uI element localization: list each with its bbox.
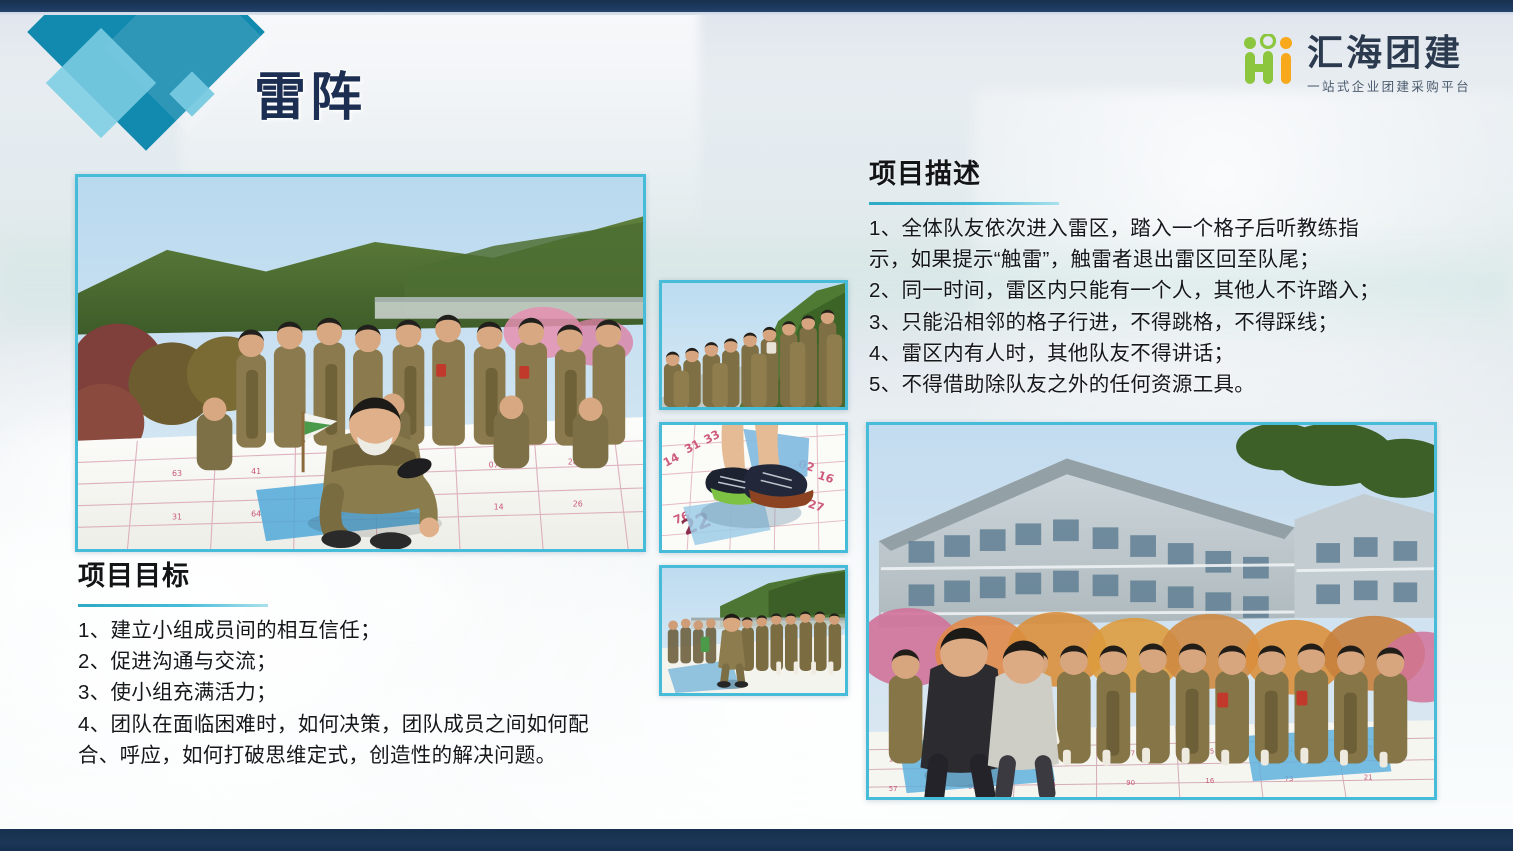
project-description-block: 项目描述 1、全体队友依次进入雷区，踏入一个格子后听教练指 示，如果提示“触雷”… [869,160,1469,401]
svg-text:64: 64 [251,510,261,519]
foot-stepping-on-numbered-grid-photo[interactable]: 14 31 33 02 16 27 76 22 [659,422,848,553]
logo-subtitle: 一站式企业团建采购平台 [1307,76,1471,95]
svg-text:57: 57 [889,785,898,793]
svg-text:14: 14 [494,503,504,512]
coach-crouching-on-minefield-grid-photo[interactable]: 6341 5219 0728 3164 0587 1426 [75,174,646,552]
svg-text:16: 16 [1205,777,1214,785]
brand-logo[interactable]: 汇海团建 一站式企业团建采购平台 [1239,34,1471,95]
goals-underline [78,604,268,607]
svg-text:41: 41 [251,467,261,476]
slide-canvas: 雷阵 汇海团建 一站式企业团建采购平台 [0,0,1513,851]
top-navy-bar [0,0,1513,12]
description-list: 1、全体队友依次进入雷区，踏入一个格子后听教练指 示，如果提示“触雷”，触雷者退… [869,213,1469,401]
list-item: 2、促进沟通与交流； [78,646,668,677]
top-bar-highlight [0,12,1513,15]
svg-text:31: 31 [172,512,182,521]
svg-text:63: 63 [172,469,182,478]
hi-people-logo-icon [1239,34,1297,90]
svg-text:21: 21 [1364,773,1373,781]
goals-list: 1、建立小组成员间的相互信任； 2、促进沟通与交流； 3、使小组充满活力； 4、… [78,615,668,772]
description-heading: 项目描述 [869,160,1469,190]
slide-title: 雷阵 [254,72,366,124]
svg-text:90: 90 [1126,779,1135,787]
goals-heading: 项目目标 [78,562,668,592]
bottom-navy-bar [0,829,1513,851]
list-item: 2、同一时间，雷区内只能有一个人，其他人不许踏入； [869,275,1469,306]
project-goals-block: 项目目标 1、建立小组成员间的相互信任； 2、促进沟通与交流； 3、使小组充满活… [78,562,668,771]
description-underline [869,202,1059,205]
list-item: 4、团队在面临困难时，如何决策，团队成员之间如何配 合、呼应，如何打破思维定式，… [78,709,668,772]
list-item: 4、雷区内有人时，其他队友不得讲话； [869,338,1469,369]
list-item: 5、不得借助除队友之外的任何资源工具。 [869,369,1469,400]
logo-brand-name: 汇海团建 [1307,34,1471,72]
list-item: 3、使小组充满活力； [78,677,668,708]
svg-text:26: 26 [573,500,583,509]
participant-walking-minefield-photo[interactable] [659,565,848,696]
list-item: 1、建立小组成员间的相互信任； [78,615,668,646]
list-item: 3、只能沿相邻的格子行进，不得跳格，不得踩线； [869,307,1469,338]
list-item: 1、全体队友依次进入雷区，踏入一个格子后听教练指 示，如果提示“触雷”，触雷者退… [869,213,1469,276]
instructor-briefing-large-group-photo[interactable]: 1248 0377 2561 39 5708 4490 1673 21 [866,422,1437,800]
team-group-on-hillside-photo[interactable] [659,280,848,410]
